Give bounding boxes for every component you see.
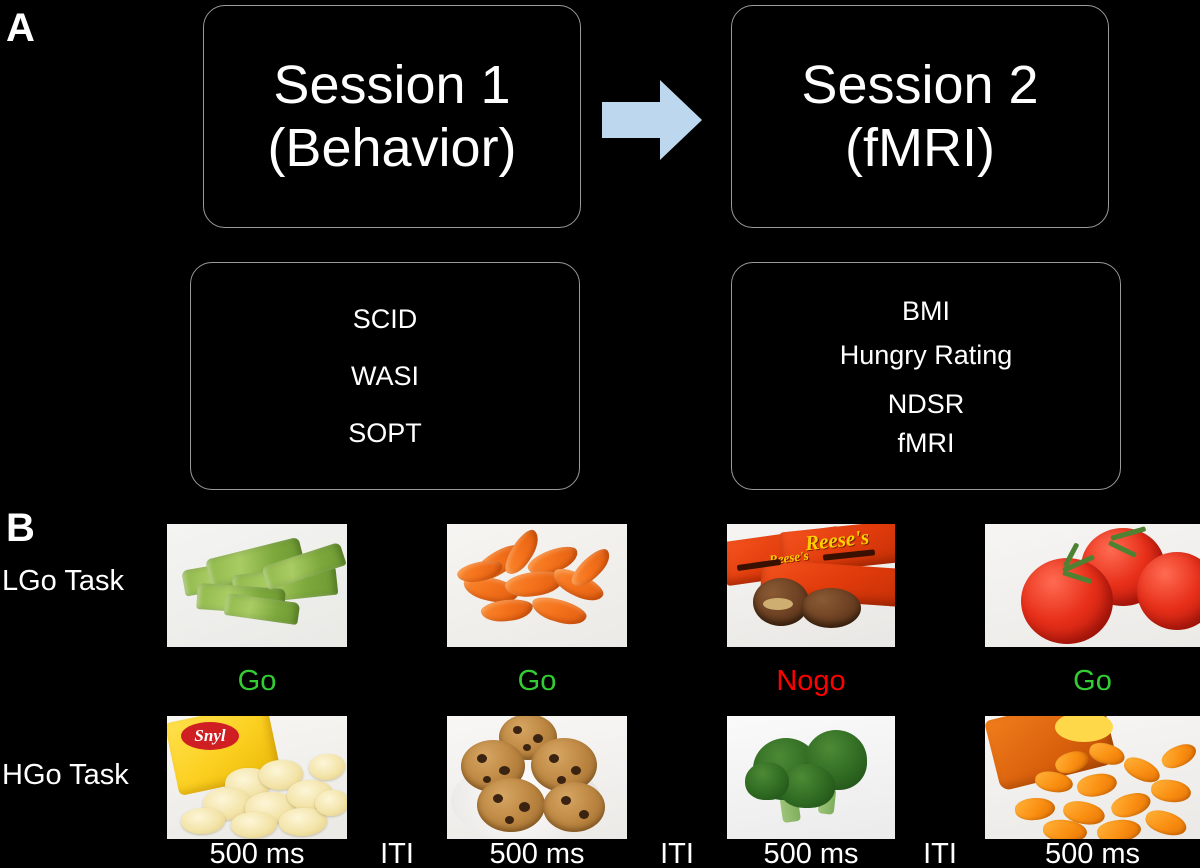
session-1-box: Session 1 (Behavior) — [203, 5, 581, 228]
stimulus-image-reeses: Reese's Reese's — [727, 524, 895, 647]
measure-item: SCID — [353, 306, 418, 333]
hgo-task-label: HGo Task — [2, 761, 129, 790]
response-label-go-3: Go — [985, 667, 1200, 696]
stimulus-image-celery — [167, 524, 347, 647]
right-arrow-icon — [598, 76, 706, 164]
figure-canvas: A Session 1 (Behavior) Session 2 (fMRI) … — [0, 0, 1200, 868]
stimulus-image-broccoli — [727, 716, 895, 839]
measure-item: Hungry Rating — [840, 342, 1013, 369]
session-1-measures-box: SCID WASI SOPT — [190, 262, 580, 490]
panel-a-letter: A — [6, 8, 34, 48]
session-2-measure-list: BMI Hungry Rating NDSR fMRI — [732, 263, 1120, 489]
panel-b-letter: B — [6, 508, 34, 548]
timing-label-iti-3: ITI — [895, 840, 985, 868]
stimulus-image-cookies — [447, 716, 627, 839]
session-2-measures-box: BMI Hungry Rating NDSR fMRI — [731, 262, 1121, 490]
session-1-measure-list: SCID WASI SOPT — [191, 263, 579, 489]
stimulus-image-tomatoes — [985, 524, 1200, 647]
measure-item: BMI — [902, 298, 950, 325]
session-1-title-line2: (Behavior) — [267, 117, 516, 180]
stimulus-image-baby-carrots — [447, 524, 627, 647]
session-2-title-line2: (fMRI) — [845, 117, 995, 180]
measure-item: NDSR — [888, 391, 965, 418]
measure-item: fMRI — [898, 430, 955, 457]
session-2-box: Session 2 (fMRI) — [731, 5, 1109, 228]
timing-label-duration-3: 500 ms — [727, 840, 895, 868]
response-label-go-2: Go — [447, 667, 627, 696]
timing-label-iti-2: ITI — [627, 840, 727, 868]
response-label-nogo: Nogo — [727, 667, 895, 696]
lgo-task-label: LGo Task — [2, 567, 124, 596]
session-1-title-line1: Session 1 — [273, 54, 510, 117]
timing-label-iti-1: ITI — [347, 840, 447, 868]
timing-label-duration-4: 500 ms — [985, 840, 1200, 868]
session-2-title-line1: Session 2 — [801, 54, 1038, 117]
timing-label-duration-1: 500 ms — [167, 840, 347, 868]
measure-item: WASI — [351, 363, 419, 390]
response-label-go-1: Go — [167, 667, 347, 696]
measure-item: SOPT — [348, 420, 422, 447]
stimulus-image-potato-chips: Snyl — [167, 716, 347, 839]
timing-label-duration-2: 500 ms — [447, 840, 627, 868]
chips-brand-logo: Snyl — [181, 722, 239, 750]
stimulus-image-cheese-puffs — [985, 716, 1200, 839]
